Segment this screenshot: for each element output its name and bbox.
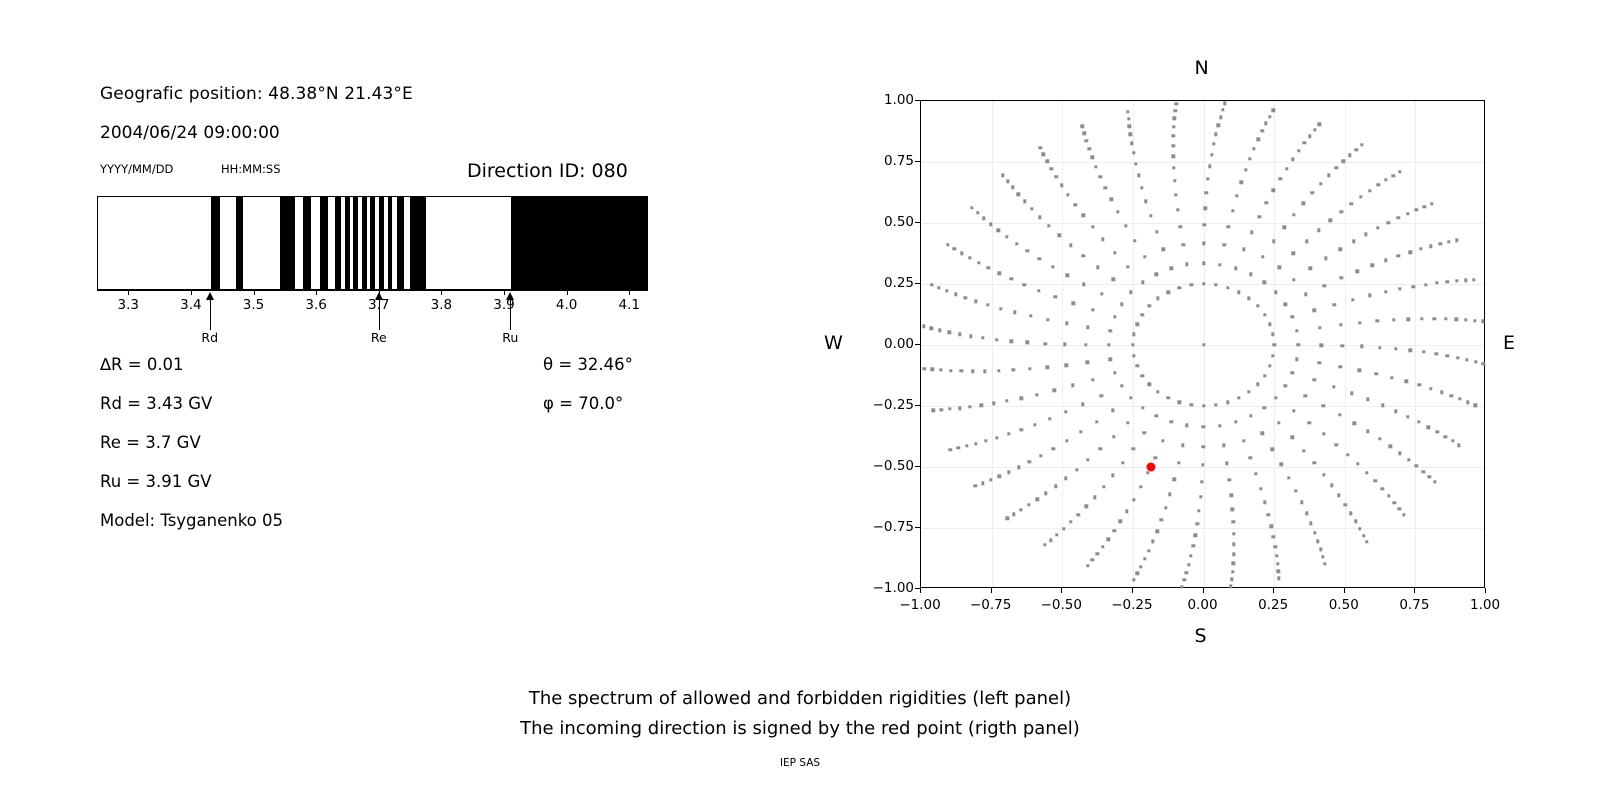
x-axis-tick-mark <box>1485 588 1486 593</box>
allowed-band <box>511 197 648 289</box>
x-axis-tick-label: −0.25 <box>1111 597 1152 613</box>
x-axis-tick-mark <box>1132 588 1133 593</box>
rigidity-marker-line <box>510 299 511 330</box>
parameter-item: Re = 3.7 GV <box>100 433 201 452</box>
allowed-band <box>397 197 403 289</box>
rigidity-spectrum-chart <box>97 196 648 290</box>
time-format-hint: HH:MM:SS <box>221 162 281 176</box>
allowed-band <box>388 197 392 289</box>
parameter-item: Rd = 3.43 GV <box>100 394 212 413</box>
x-axis-tick-mark <box>920 588 921 593</box>
footer-label: IEP SAS <box>0 757 1600 769</box>
y-axis-tick-mark <box>915 405 920 406</box>
allowed-band <box>370 197 375 289</box>
allowed-band <box>379 197 384 289</box>
x-axis-tick-label: −0.75 <box>970 597 1011 613</box>
y-axis-tick-label: −0.50 <box>862 458 914 474</box>
y-axis-tick-label: −0.25 <box>862 397 914 413</box>
allowed-band <box>211 197 220 289</box>
geographic-position-label: Geografic position: 48.38°N 21.43°E <box>100 84 413 104</box>
y-axis-tick-label: 1.00 <box>862 92 914 108</box>
x-axis-tick-mark <box>1344 588 1345 593</box>
rigidity-markers: RdReRu <box>97 290 648 350</box>
direction-id-label: Direction ID: 080 <box>467 160 628 182</box>
y-axis-tick-mark <box>915 222 920 223</box>
x-axis-tick-label: 0.75 <box>1399 597 1429 613</box>
parameter-list-right: θ = 32.46°φ = 70.0° <box>543 355 793 475</box>
x-axis-tick-mark <box>1414 588 1415 593</box>
allowed-band <box>335 197 341 289</box>
x-axis-tick-mark <box>991 588 992 593</box>
x-axis-tick-label: −0.50 <box>1041 597 1082 613</box>
allowed-band <box>236 197 244 289</box>
right-panel: N S E W −1.00−0.75−0.50−0.250.000.250.50… <box>800 0 1600 800</box>
y-axis-tick-mark <box>915 466 920 467</box>
rigidity-marker-label: Re <box>371 330 387 345</box>
parameter-item: ∆R = 0.01 <box>100 355 184 374</box>
y-axis-tick-mark <box>915 527 920 528</box>
y-axis-tick-mark <box>915 283 920 284</box>
rigidity-spectrum-bar <box>97 196 648 290</box>
allowed-band <box>353 197 358 289</box>
date-format-hint: YYYY/MM/DD <box>100 162 173 176</box>
y-axis-tick-label: 0.25 <box>862 275 914 291</box>
x-axis-tick-label: 0.00 <box>1187 597 1217 613</box>
allowed-band <box>320 197 328 289</box>
y-axis-tick-mark <box>915 344 920 345</box>
x-axis-tick-mark <box>1273 588 1274 593</box>
parameter-list-left: ∆R = 0.01Rd = 3.43 GVRe = 3.7 GVRu = 3.9… <box>100 355 500 555</box>
allowed-band <box>345 197 350 289</box>
y-axis-tick-mark <box>915 161 920 162</box>
scatter-axis-decoration: −1.00−0.75−0.50−0.250.000.250.500.751.00… <box>800 0 1600 800</box>
x-axis-tick-label: 0.25 <box>1258 597 1288 613</box>
rigidity-marker-label: Ru <box>502 330 518 345</box>
caption-line-2: The incoming direction is signed by the … <box>0 718 1600 739</box>
datetime-label: 2004/06/24 09:00:00 <box>100 123 280 143</box>
x-axis-tick-label: 1.00 <box>1470 597 1500 613</box>
x-axis-tick-label: 0.50 <box>1329 597 1359 613</box>
left-panel: Geografic position: 48.38°N 21.43°E 2004… <box>0 0 800 800</box>
rigidity-marker-arrow-icon <box>506 292 514 300</box>
allowed-band <box>280 197 295 289</box>
rigidity-marker-arrow-icon <box>206 292 214 300</box>
y-axis-tick-mark <box>915 100 920 101</box>
allowed-band <box>362 197 366 289</box>
x-axis-tick-label: −1.00 <box>899 597 940 613</box>
rigidity-marker-line <box>210 299 211 330</box>
allowed-band <box>303 197 311 289</box>
y-axis-tick-label: 0.75 <box>862 153 914 169</box>
rigidity-marker-arrow-icon <box>375 292 383 300</box>
parameter-item: θ = 32.46° <box>543 355 633 374</box>
rigidity-marker-label: Rd <box>201 330 218 345</box>
x-axis-tick-mark <box>1061 588 1062 593</box>
x-axis-tick-mark <box>1203 588 1204 593</box>
y-axis-tick-label: −1.00 <box>862 580 914 596</box>
y-axis-tick-label: 0.00 <box>862 336 914 352</box>
y-axis-tick-label: −0.75 <box>862 519 914 535</box>
parameter-item: Model: Tsyganenko 05 <box>100 511 283 530</box>
parameter-item: Ru = 3.91 GV <box>100 472 212 491</box>
y-axis-tick-label: 0.50 <box>862 214 914 230</box>
caption-line-1: The spectrum of allowed and forbidden ri… <box>0 688 1600 709</box>
allowed-band <box>410 197 426 289</box>
parameter-item: φ = 70.0° <box>543 394 623 413</box>
rigidity-marker-line <box>379 299 380 330</box>
